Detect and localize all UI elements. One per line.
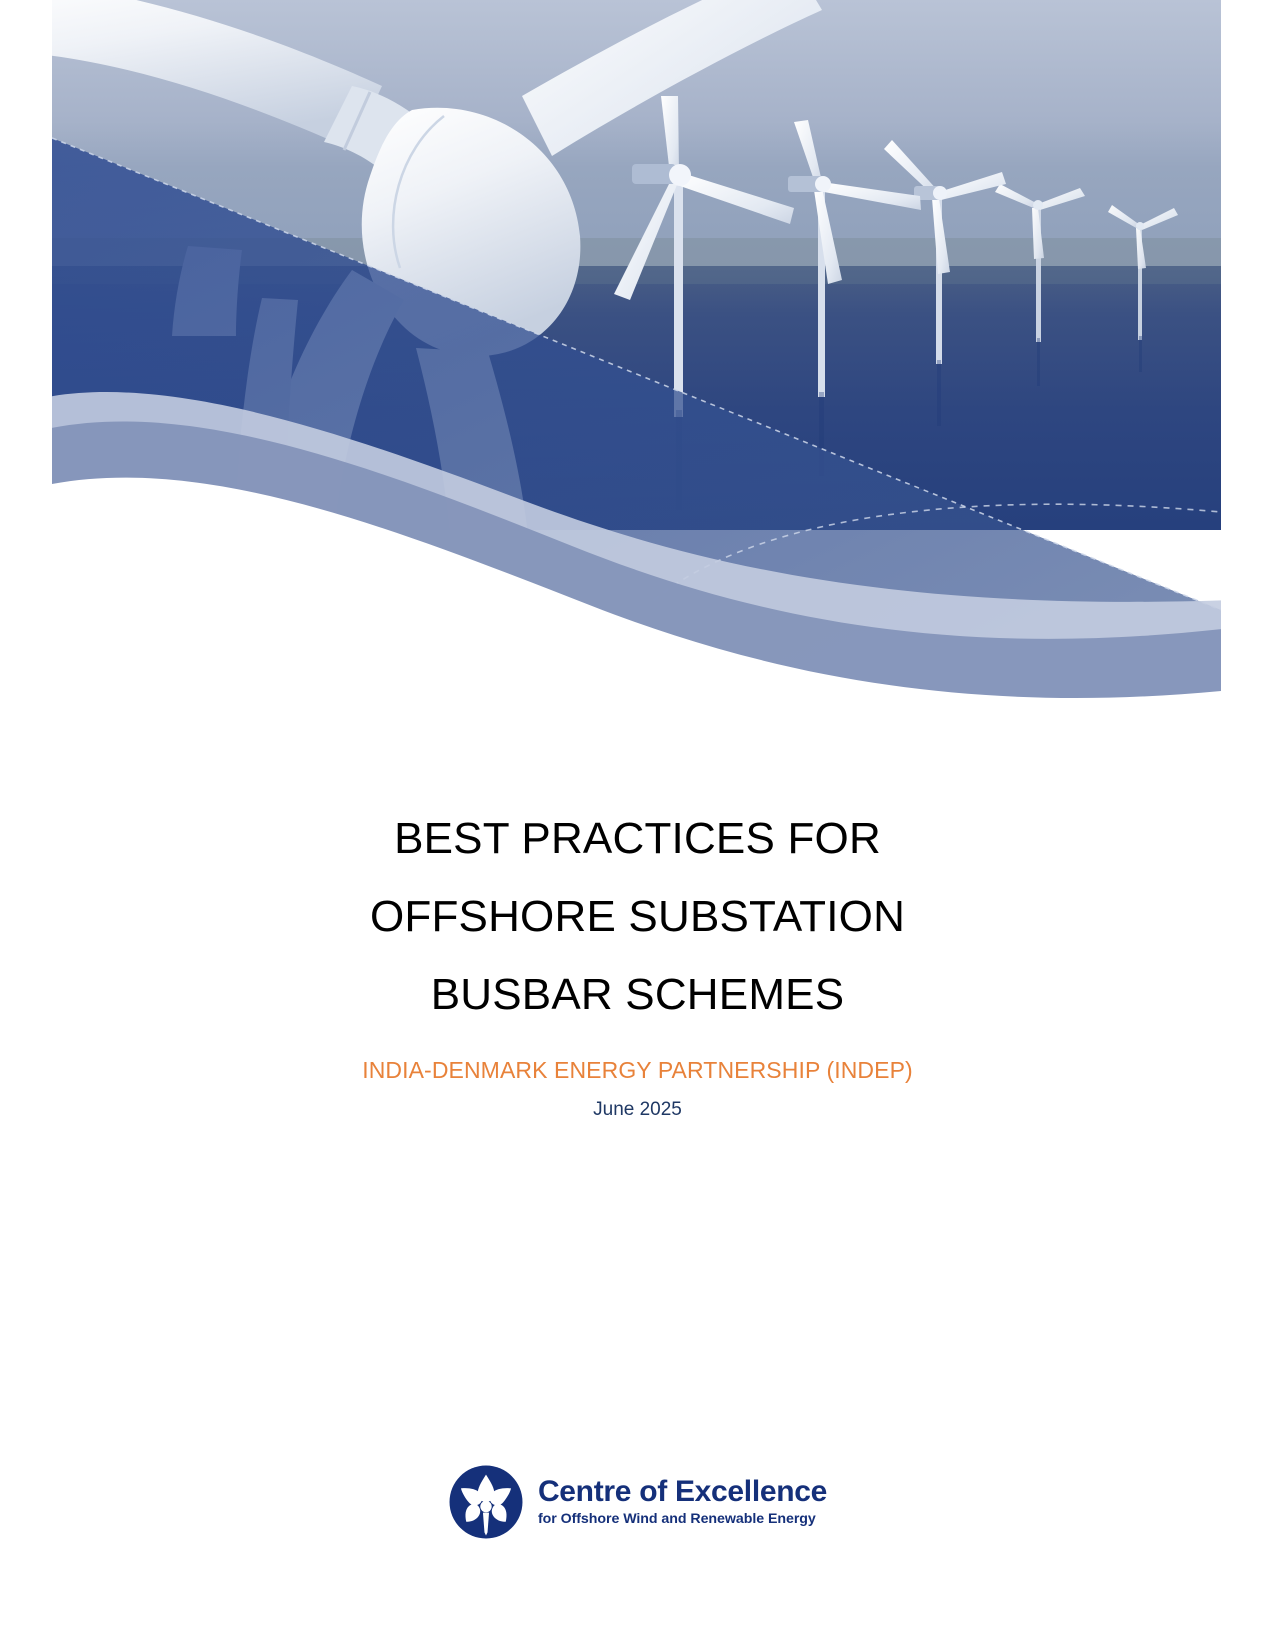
page-title-line-3: BUSBAR SCHEMES (0, 956, 1275, 1034)
document-page: BEST PRACTICES FOR OFFSHORE SUBSTATION B… (0, 0, 1275, 1650)
page-subtitle: INDIA-DENMARK ENERGY PARTNERSHIP (INDEP) (0, 1056, 1275, 1084)
hero-illustration (52, 0, 1221, 705)
cover-title-block: BEST PRACTICES FOR OFFSHORE SUBSTATION B… (0, 800, 1275, 1122)
logo-wordmark: Centre of Excellence for Offshore Wind a… (538, 1477, 827, 1526)
page-title-line-1: BEST PRACTICES FOR (0, 800, 1275, 878)
organisation-logo: Centre of Excellence for Offshore Wind a… (0, 1464, 1275, 1540)
logo-tagline: for Offshore Wind and Renewable Energy (538, 1512, 827, 1526)
centre-of-excellence-emblem-icon (448, 1464, 524, 1540)
logo-title: Centre of Excellence (538, 1477, 827, 1507)
cover-hero-image (52, 0, 1221, 705)
publication-date: June 2025 (0, 1098, 1275, 1122)
logo-lockup: Centre of Excellence for Offshore Wind a… (448, 1464, 827, 1540)
page-title-line-2: OFFSHORE SUBSTATION (0, 878, 1275, 956)
